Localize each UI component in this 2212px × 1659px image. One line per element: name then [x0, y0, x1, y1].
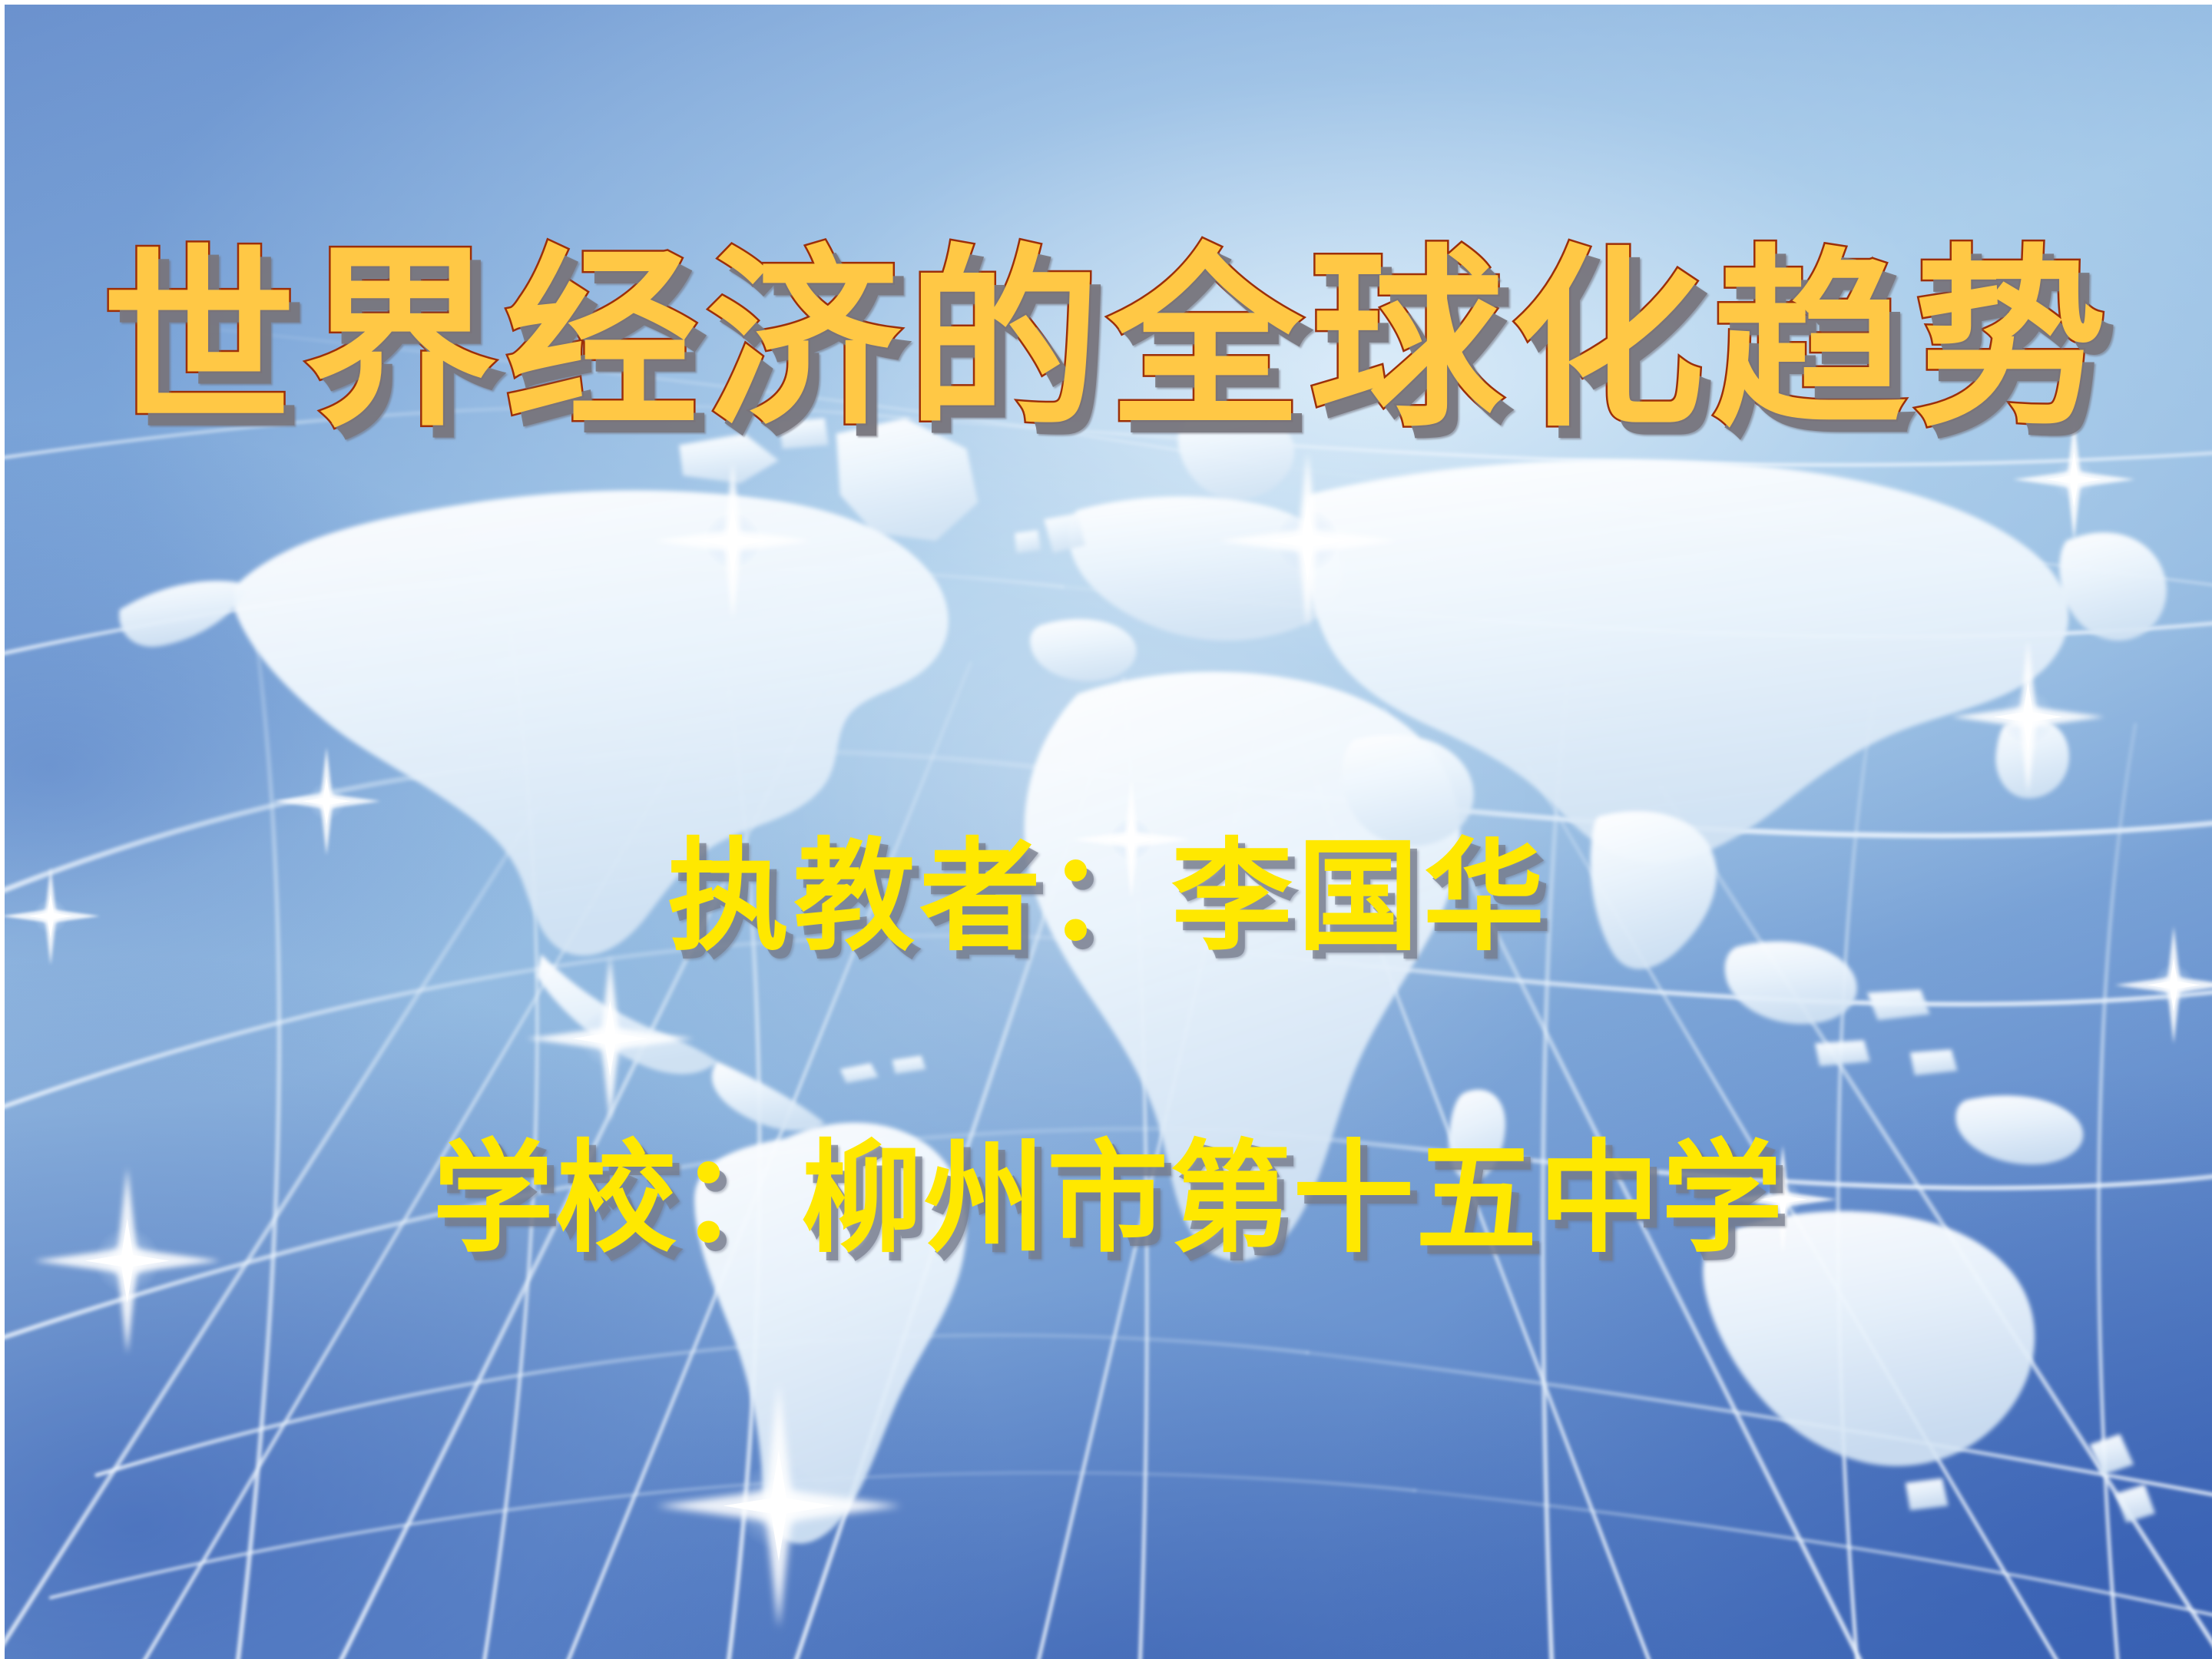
- subtitle-instructor-block: 执教者：李国华: [5, 830, 2212, 964]
- presentation-slide: 世界经济的全球化趋势 执教者：李国华 学校：柳州市第十五中学: [0, 0, 2212, 1659]
- subtitle-instructor: 执教者：李国华: [667, 830, 1549, 964]
- subtitle-school: 学校：柳州市第十五中学: [432, 1132, 1784, 1266]
- slide-title: 世界经济的全球化趋势: [102, 235, 2114, 444]
- subtitle-school-block: 学校：柳州市第十五中学: [5, 1132, 2212, 1266]
- slide-title-block: 世界经济的全球化趋势: [5, 235, 2212, 444]
